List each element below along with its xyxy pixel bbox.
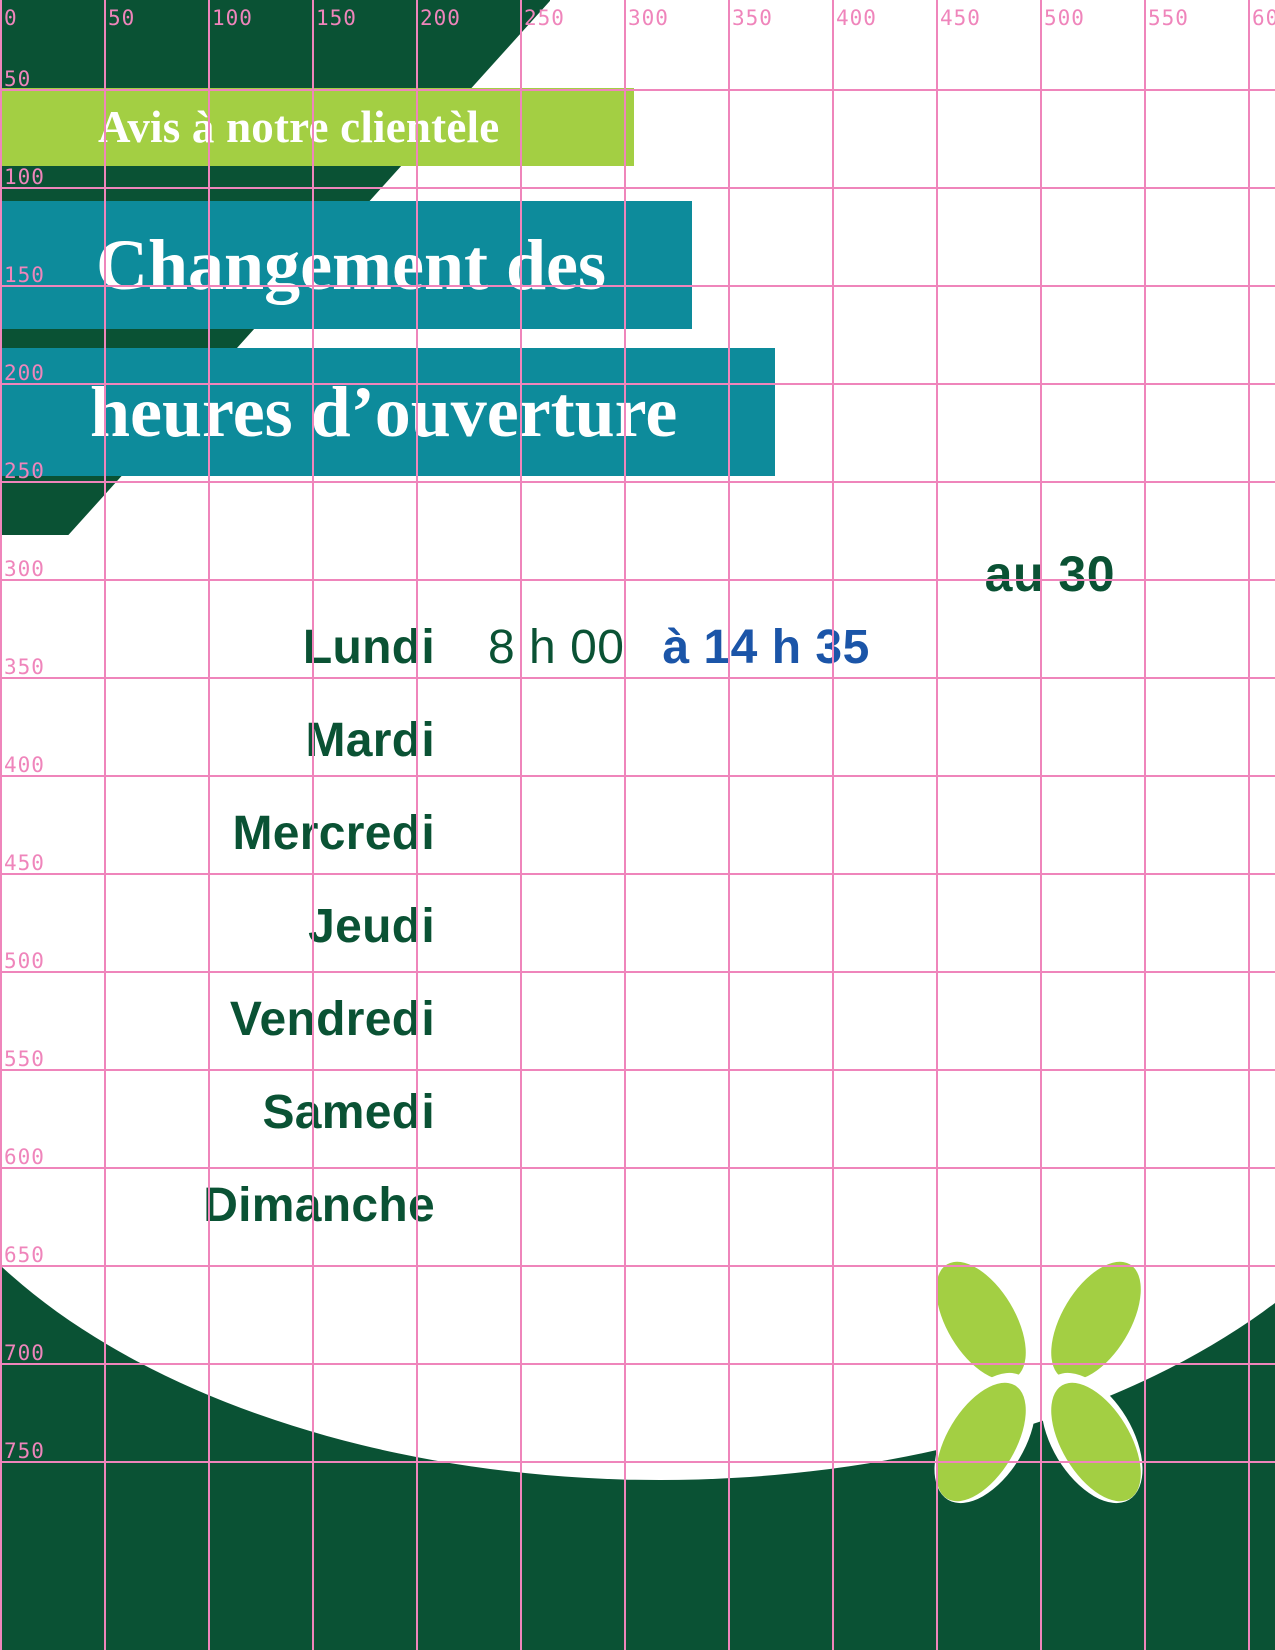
- kicker-banner: Avis à notre clientèle: [0, 88, 634, 166]
- schedule-day-label: Vendredi: [0, 992, 435, 1047]
- title-banner-line1: Changement des: [0, 201, 692, 329]
- schedule-row: Samedi: [0, 1085, 1000, 1178]
- schedule-day-label: Mercredi: [0, 806, 435, 861]
- grid-label-x: 300: [628, 6, 669, 30]
- grid-label-x: 600: [1252, 6, 1275, 30]
- schedule-day-label: Jeudi: [0, 899, 435, 954]
- schedule-row: Jeudi: [0, 899, 1000, 992]
- title-line1-text: Changement des: [96, 224, 606, 307]
- grid-line-vertical: [1248, 0, 1250, 1650]
- schedule-row: Vendredi: [0, 992, 1000, 1085]
- grid-label-x: 450: [940, 6, 981, 30]
- schedule-day-label: Lundi: [0, 620, 435, 675]
- poster-canvas: Avis à notre clientèle Changement des he…: [0, 0, 1275, 1650]
- grid-line-horizontal: [0, 187, 1275, 189]
- schedule-day-label: Dimanche: [0, 1178, 435, 1233]
- schedule-row: Lundi 8 h 00 à 14 h 35: [0, 620, 1000, 713]
- schedule-row: Dimanche: [0, 1178, 1000, 1271]
- grid-label-y: 700: [4, 1341, 45, 1365]
- grid-label-x: 500: [1044, 6, 1085, 30]
- grid-label-x: 250: [524, 6, 565, 30]
- schedule-row: Mercredi: [0, 806, 1000, 899]
- grid-line-horizontal: [0, 481, 1275, 483]
- grid-label-x: 150: [316, 6, 357, 30]
- schedule-list: Lundi 8 h 00 à 14 h 35 Mardi Mercredi Je…: [0, 620, 1000, 1271]
- schedule-close-time: à 14 h 35: [662, 620, 869, 675]
- effective-date-note: au 30: [985, 545, 1115, 603]
- grid-label-x: 0: [4, 6, 18, 30]
- flower-logo: [912, 1240, 1162, 1520]
- kicker-text: Avis à notre clientèle: [98, 101, 499, 153]
- title-line2-text: heures d’ouverture: [90, 371, 677, 454]
- grid-label-y: 100: [4, 165, 45, 189]
- title-banner-line2: heures d’ouverture: [0, 348, 775, 476]
- schedule-row: Mardi: [0, 713, 1000, 806]
- grid-label-y: 300: [4, 557, 45, 581]
- grid-label-x: 50: [108, 6, 135, 30]
- schedule-day-label: Samedi: [0, 1085, 435, 1140]
- schedule-day-label: Mardi: [0, 713, 435, 768]
- grid-label-x: 350: [732, 6, 773, 30]
- grid-label-y: 750: [4, 1439, 45, 1463]
- grid-label-x: 200: [420, 6, 461, 30]
- grid-label-x: 100: [212, 6, 253, 30]
- grid-label-x: 550: [1148, 6, 1189, 30]
- grid-label-x: 400: [836, 6, 877, 30]
- schedule-open-time: 8 h 00: [488, 620, 624, 675]
